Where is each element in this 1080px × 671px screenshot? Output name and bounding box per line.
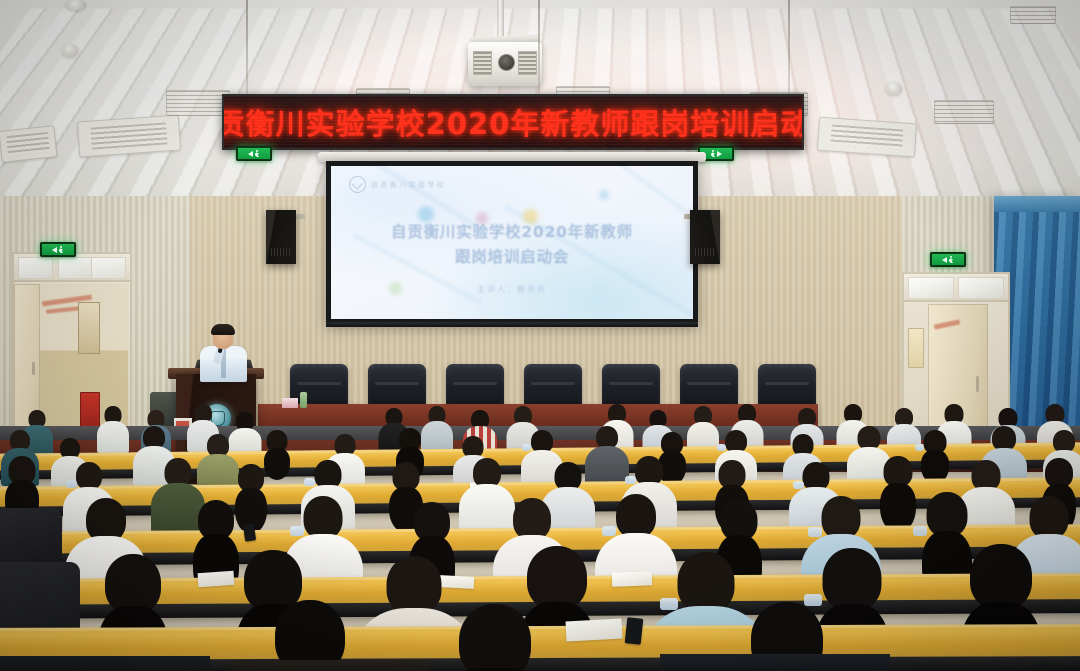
ceiling-projector	[468, 42, 542, 86]
curtain-rail	[994, 196, 1080, 212]
school-crest-icon	[349, 176, 366, 193]
ceiling-air-grille	[166, 90, 230, 116]
exit-sign-icon	[930, 252, 966, 267]
slide-logo-text: 自贡衡川实验学校	[371, 180, 446, 190]
stage-chair[interactable]	[446, 364, 504, 408]
audience-foreground-mass	[0, 656, 210, 671]
ceiling-ac-vent	[817, 117, 917, 158]
ceiling-speaker	[62, 44, 78, 57]
door-transom-window	[902, 272, 1010, 302]
lecture-hall-photo: 自贡衡川实验学校2020年新教师跟岗培训启动会 自贡衡川实验学校 自贡衡川实验学…	[0, 0, 1080, 671]
slide-subtitle: 主讲人：教务处	[331, 284, 693, 295]
audience-foreground-mass	[660, 654, 890, 671]
led-banner-text: 自贡衡川实验学校2020年新教师跟岗培训启动会	[222, 101, 804, 143]
face-mask	[913, 526, 927, 536]
audience-foreground-mass	[230, 660, 430, 671]
face-mask	[915, 444, 924, 451]
slide-decoration	[599, 190, 609, 200]
face-mask	[522, 444, 531, 451]
stage-chair[interactable]	[758, 364, 816, 408]
exit-sign-icon	[236, 146, 272, 161]
projector-vent	[473, 51, 492, 75]
projection-screen: 自贡衡川实验学校 自贡衡川实验学校2020年新教师 跟岗培训启动会 主讲人：教务…	[326, 161, 698, 324]
face-mask	[66, 480, 77, 488]
banner-support-wire	[538, 0, 540, 96]
face-mask	[717, 444, 726, 451]
face-mask	[602, 526, 616, 536]
audience-member	[420, 604, 570, 671]
stage-chair[interactable]	[680, 364, 738, 408]
face-mask	[808, 527, 822, 537]
ceiling-speaker	[886, 82, 902, 95]
slide-school-logo: 自贡衡川实验学校	[349, 176, 446, 193]
led-scrolling-banner: 自贡衡川实验学校2020年新教师跟岗培训启动会	[222, 94, 804, 150]
face-mask	[290, 526, 304, 536]
exit-sign-icon	[40, 242, 76, 257]
slide-decoration	[548, 166, 685, 212]
handout-paper	[566, 619, 623, 642]
ceiling-air-grille	[1010, 6, 1056, 24]
face-mask	[625, 476, 636, 484]
ceiling-ac-vent	[0, 125, 58, 163]
projector-vent	[518, 51, 537, 75]
transom-pane	[18, 257, 53, 279]
ceiling-ac-vent	[77, 114, 181, 157]
transom-pane	[958, 277, 1004, 299]
ceiling-speaker	[66, 0, 86, 10]
banner-support-wire	[788, 0, 790, 96]
notice-board	[78, 302, 100, 354]
stage-chair[interactable]	[602, 364, 660, 408]
transom-pane	[58, 257, 93, 279]
door-window	[908, 328, 924, 368]
projection-screen-weight-bar	[326, 322, 698, 327]
slide-title-line-1: 自贡衡川实验学校2020年新教师	[331, 220, 693, 245]
audience-member	[96, 406, 130, 450]
face-mask	[793, 481, 804, 489]
door-handle[interactable]	[32, 362, 35, 375]
corridor-red-marking	[46, 306, 80, 314]
stage-chair[interactable]	[524, 364, 582, 408]
face-mask	[304, 478, 315, 486]
transom-pane	[908, 277, 954, 299]
audience-seating-area	[0, 404, 1080, 671]
banner-support-wire	[246, 0, 248, 96]
stage-chair[interactable]	[290, 364, 348, 408]
wall-speaker-left	[266, 210, 296, 264]
smartphone[interactable]	[625, 617, 644, 645]
wall-speaker-right	[690, 210, 720, 264]
slide-title: 自贡衡川实验学校2020年新教师 跟岗培训启动会	[331, 220, 693, 270]
stage-chair[interactable]	[368, 364, 426, 408]
face-mask	[660, 598, 678, 610]
speaker-bracket	[296, 214, 305, 219]
projector-lens-icon	[498, 54, 515, 71]
ceiling-air-grille	[934, 100, 994, 124]
door-handle[interactable]	[976, 376, 979, 392]
transom-pane	[91, 257, 126, 279]
slide-title-line-2: 跟岗培训启动会	[331, 245, 693, 270]
presenter-hair	[211, 324, 235, 335]
projected-slide: 自贡衡川实验学校 自贡衡川实验学校2020年新教师 跟岗培训启动会 主讲人：教务…	[331, 166, 693, 319]
